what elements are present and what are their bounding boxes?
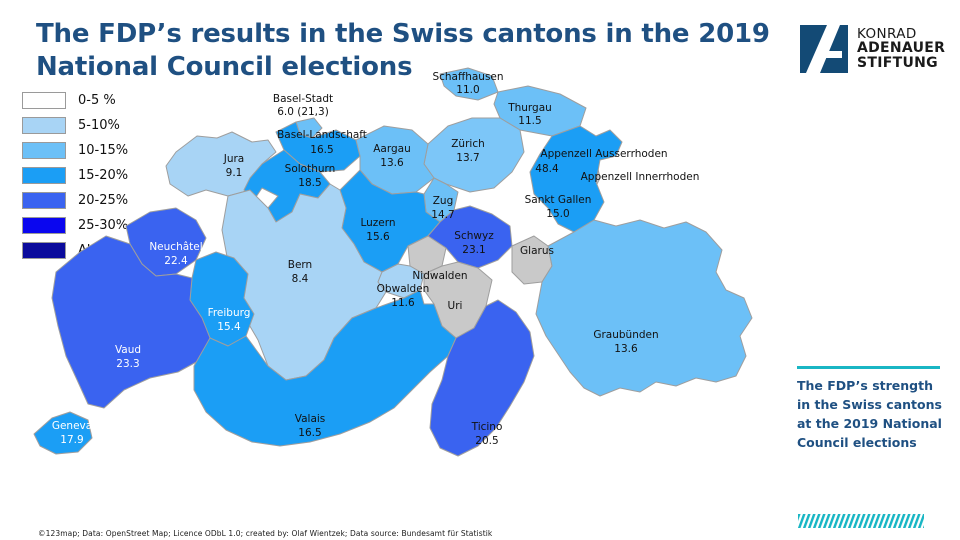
infographic-page: The FDP’s results in the Swiss cantons i… <box>0 0 960 540</box>
canton-label: Basel-Landschaft <box>277 129 367 141</box>
switzerland-choropleth-map: Schaffhausen11.0Basel-Stadt6.0 (21,3)Thu… <box>0 60 790 490</box>
caption-divider <box>797 366 940 369</box>
canton-label: Nidwalden <box>412 270 467 282</box>
canton-label: Jura <box>223 153 245 165</box>
canton-label: Uri <box>448 300 463 312</box>
logo-line-stiftung: STIFTUNG <box>857 56 945 71</box>
kas-logo: KONRAD ADENAUER STIFTUNG <box>800 25 945 73</box>
canton-value: 20.5 <box>475 435 498 447</box>
canton-label: Sankt Gallen <box>525 194 592 206</box>
caption-text: The FDP’s strength in the Swiss cantons … <box>797 376 949 452</box>
canton-label: Solothurn <box>285 163 336 175</box>
canton-label: Aargau <box>373 143 411 155</box>
canton-value: 9.1 <box>226 167 243 179</box>
canton-label: Valais <box>295 413 326 425</box>
canton-geneva[interactable] <box>34 412 92 454</box>
canton-graub-nden[interactable] <box>536 220 752 396</box>
canton-value: 8.4 <box>292 273 309 285</box>
logo-line-konrad: KONRAD <box>857 27 945 42</box>
canton-label: Neuchâtel <box>149 241 202 253</box>
canton-label: Glarus <box>520 245 554 257</box>
canton-value: 18.5 <box>298 177 321 189</box>
canton-value: 13.6 <box>380 157 404 169</box>
canton-value: 16.5 <box>298 427 321 439</box>
canton-value: 6.0 (21,3) <box>277 106 329 118</box>
canton-label: Geneva <box>52 420 92 432</box>
canton-value: 13.6 <box>614 343 638 355</box>
canton-label: Vaud <box>115 344 141 356</box>
canton-value: 14.7 <box>431 209 454 221</box>
canton-label: Appenzell Innerrhoden <box>581 171 700 183</box>
canton-label: Schaffhausen <box>432 71 503 83</box>
canton-value: 13.7 <box>456 152 479 164</box>
attribution-text: ©123map; Data: OpenStreet Map; Licence O… <box>38 529 492 538</box>
canton-value: 23.1 <box>462 244 485 256</box>
canton-label: Schwyz <box>454 230 494 242</box>
canton-value: 17.9 <box>60 434 83 446</box>
canton-label: Luzern <box>360 217 395 229</box>
logo-line-adenauer: ADENAUER <box>857 41 945 56</box>
hatch-decoration <box>798 513 924 527</box>
canton-label: Basel-Stadt <box>273 93 333 105</box>
canton-value: 15.6 <box>366 231 390 243</box>
kas-logo-mark-icon <box>800 25 848 73</box>
canton-value: 15.4 <box>217 321 241 333</box>
canton-value: 48.4 <box>535 163 559 175</box>
canton-label: Thurgau <box>507 102 552 114</box>
canton-label: Appenzell Ausserrhoden <box>540 148 667 160</box>
canton-label: Graubünden <box>593 329 658 341</box>
canton-label: Zürich <box>451 138 485 150</box>
canton-value: 16.5 <box>310 144 333 156</box>
canton-value: 11.5 <box>518 115 541 127</box>
canton-value: 11.0 <box>456 84 479 96</box>
canton-value: 15.0 <box>546 208 569 220</box>
kas-logo-text: KONRAD ADENAUER STIFTUNG <box>857 27 945 72</box>
canton-value: 23.3 <box>116 358 139 370</box>
canton-value: 22.4 <box>164 255 188 267</box>
canton-label: Ticino <box>471 421 503 433</box>
canton-label: Zug <box>433 195 454 207</box>
canton-label: Obwalden <box>377 283 430 295</box>
canton-label: Freiburg <box>208 307 251 319</box>
canton-label: Bern <box>288 259 312 271</box>
canton-value: 11.6 <box>391 297 415 309</box>
